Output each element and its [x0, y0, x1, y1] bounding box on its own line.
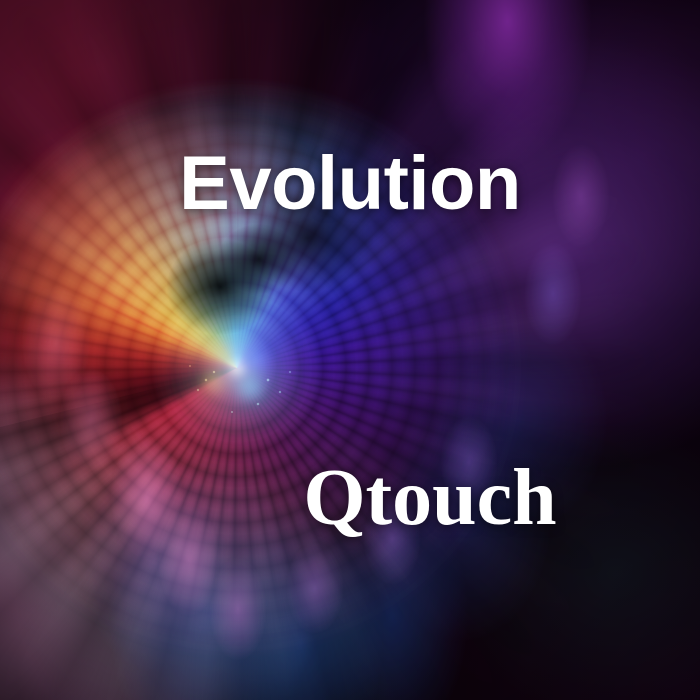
blue-petal-forms [0, 0, 700, 700]
violet-wedge-accent [0, 0, 700, 700]
spiral-dark-wedge-secondary [0, 0, 700, 700]
red-filament-region [0, 0, 700, 700]
album-cover: Evolution Qtouch [0, 0, 700, 700]
album-title: Evolution [0, 146, 700, 222]
core-sparkles [0, 0, 700, 700]
purple-haze-layer [0, 0, 700, 700]
vignette-overlay [0, 0, 700, 700]
black-pocket-region [0, 0, 700, 700]
background-base-maroon [0, 0, 700, 700]
mauve-glow-lower-left [0, 0, 700, 700]
background-base-dark [0, 0, 700, 700]
teal-mass-layer [0, 0, 700, 700]
spiral-rib-texture [0, 0, 700, 700]
iridescent-petal-rims [0, 0, 700, 700]
spiral-scale-plates [0, 0, 700, 700]
core-halo [0, 0, 700, 700]
spiral-dark-wedge [0, 0, 700, 700]
fractal-spiral-hue-wheel [0, 0, 700, 700]
artist-name: Qtouch [80, 458, 700, 538]
spiral-ring-texture [0, 0, 700, 700]
